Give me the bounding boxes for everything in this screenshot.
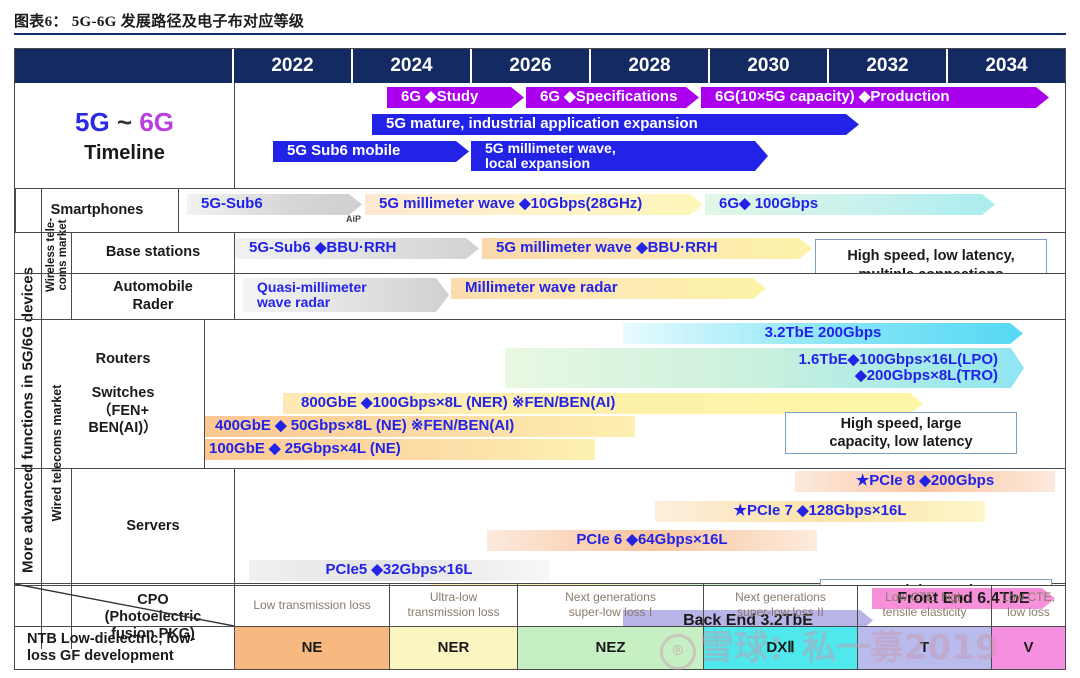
- bar-label: 5G-Sub6: [201, 196, 263, 212]
- bar-label: 400GbE ◆ 50Gbps×8L (NE) ※FEN/BEN(AI): [215, 418, 514, 434]
- bar-label: 1.6TbE◆100Gbps×16L(LPO)◆200Gbps×8L(TRO): [798, 352, 998, 384]
- legend-diagonal-cell: [15, 584, 234, 626]
- spacer-a-2: [15, 274, 41, 319]
- timeline-bar: 6G ◆Specifications: [526, 87, 699, 108]
- page-title: 图表6： 5G-6G 发展路径及电子布对应等级: [14, 10, 1066, 31]
- spacer-b-4: [41, 469, 71, 585]
- bar-label: 5G-Sub6 ◆BBU·RRH: [249, 240, 396, 256]
- timeline-canvas: 6G ◆Study6G ◆Specifications6G(10×5G capa…: [234, 83, 1065, 188]
- bar-label: 6G◆ 100Gbps: [719, 196, 818, 212]
- bar-label: Millimeter wave radar: [465, 280, 618, 296]
- legend-grade-3: DXⅡ: [703, 627, 857, 669]
- year-2032: 2032: [829, 49, 948, 83]
- timeline-bar: 5G millimeter wave ◆10Gbps(28GHz): [365, 194, 703, 215]
- legend-row-label: NTB Low-dielectric, low-loss GF developm…: [15, 627, 234, 669]
- legend-desc-3: Next generationssuper-low loss II: [703, 584, 857, 626]
- timeline-bar: 100GbE ◆ 25Gbps×4L (NE): [205, 439, 595, 460]
- bar-label: 6G ◆Specifications: [540, 89, 677, 105]
- timeline-bar: 800GbE ◆100Gbps×8L (NER) ※FEN/BEN(AI): [283, 393, 923, 414]
- year-2028: 2028: [591, 49, 710, 83]
- row-label-automobile-radar: AutomobileRader: [71, 274, 234, 319]
- bar-label: 3.2TbE 200Gbps: [765, 325, 882, 341]
- year-2034: 2034: [948, 49, 1065, 83]
- spacer-b-2: [41, 274, 71, 319]
- note-servers: High speed,large capacity: [820, 579, 1052, 585]
- servers-canvas: ★PCIe 8 ◆200Gbps★PCIe 7 ◆128Gbps×16LPCIe…: [234, 469, 1065, 585]
- legend-grade-1: NER: [389, 627, 517, 669]
- material-grade-legend: Low transmission lossUltra-lowtransmissi…: [15, 583, 1065, 669]
- timeline-bar: 1.6TbE◆100Gbps×16L(LPO)◆200Gbps×8L(TRO): [505, 348, 1024, 388]
- timeline-bar: Quasi-millimeterwave radar: [243, 278, 449, 312]
- legend-grade-row: NTB Low-dielectric, low-loss GF developm…: [15, 626, 1065, 669]
- bar-label: PCIe 6 ◆64Gbps×16L: [576, 532, 727, 548]
- legend-desc-1: Ultra-lowtransmission loss: [389, 584, 517, 626]
- spacer-a-4: [15, 469, 41, 585]
- timeline-bar: PCIe5 ◆32Gbps×16L: [249, 560, 549, 581]
- row-base-stations: Base stations 5G-Sub6 ◆BBU·RRH5G millime…: [15, 232, 1065, 273]
- legend-description-row: Low transmission lossUltra-lowtransmissi…: [15, 584, 1065, 626]
- note-wireless: High speed, low latency,multiple connect…: [815, 239, 1047, 273]
- legend-desc-4: Low CTE, hightensile elasticity: [857, 584, 991, 626]
- timeline-subtitle: Timeline: [84, 142, 165, 165]
- timeline-bar: ★PCIe 7 ◆128Gbps×16L: [655, 501, 985, 522]
- row-label-servers: Servers: [71, 469, 234, 585]
- legend-desc-5: Low CTE,low loss: [991, 584, 1065, 626]
- timeline-bar: 400GbE ◆ 50Gbps×8L (NE) ※FEN/BEN(AI): [205, 416, 635, 437]
- timeline-bar: 5G mature, industrial application expans…: [372, 114, 859, 135]
- bar-label: PCIe5 ◆32Gbps×16L: [325, 562, 472, 578]
- bar-label: 6G ◆Study: [401, 89, 478, 105]
- timeline-row: 5G ~ 6G Timeline 6G ◆Study6G ◆Specificat…: [15, 83, 1065, 188]
- table-header: 2022 2024 2026 2028 2030 2032 2034: [15, 49, 1065, 83]
- timeline-bar: Millimeter wave radar: [451, 278, 766, 299]
- title-underline: [14, 33, 1066, 35]
- year-2022: 2022: [234, 49, 353, 83]
- row-smartphones: More advanced functions in 5G/6G devices…: [15, 188, 1065, 232]
- bar-label: 5G mature, industrial application expans…: [386, 116, 698, 132]
- timeline-bar: 5G Sub6 mobile: [273, 141, 469, 162]
- spacer-a-3: [15, 320, 41, 468]
- roadmap-table: 2022 2024 2026 2028 2030 2032 2034 5G ~ …: [14, 48, 1066, 670]
- timeline-title: 5G ~ 6G: [75, 107, 174, 138]
- bar-label: 6G(10×5G capacity) ◆Production: [715, 89, 950, 105]
- timeline-6g-label: 6G: [139, 107, 174, 137]
- row-label-base-stations: Base stations: [71, 233, 234, 273]
- bar-label: 5G Sub6 mobile: [287, 143, 400, 159]
- legend-grade-4: T: [857, 627, 991, 669]
- timeline-bar: 5G-Sub6 ◆BBU·RRH: [235, 238, 479, 259]
- timeline-title-cell: 5G ~ 6G Timeline: [15, 83, 234, 188]
- row-automobile-radar: AutomobileRader Quasi-millimeterwave rad…: [15, 273, 1065, 319]
- routers-canvas: 3.2TbE 200Gbps1.6TbE◆100Gbps×16L(LPO)◆20…: [204, 320, 1065, 468]
- legend-grade-2: NEZ: [517, 627, 703, 669]
- aip-annotation: AiP: [346, 214, 361, 224]
- timeline-bar: 5G millimeter wave ◆BBU·RRH: [482, 238, 812, 259]
- row-routers-switches: Wired telecoms market RoutersSwitches（FE…: [15, 319, 1065, 468]
- legend-desc-0: Low transmission loss: [234, 584, 389, 626]
- bar-label: Quasi-millimeterwave radar: [257, 280, 367, 310]
- header-corner-cell: [15, 49, 234, 83]
- timeline-5g-label: 5G: [75, 107, 110, 137]
- bar-label: 5G millimeter wave,local expansion: [485, 141, 616, 171]
- base-stations-canvas: 5G-Sub6 ◆BBU·RRH5G millimeter wave ◆BBU·…: [234, 233, 1065, 273]
- smartphones-canvas: 5G-Sub65G millimeter wave ◆10Gbps(28GHz)…: [178, 189, 1065, 232]
- year-2030: 2030: [710, 49, 829, 83]
- timeline-bar: 5G millimeter wave,local expansion: [471, 141, 768, 171]
- year-2024: 2024: [353, 49, 472, 83]
- legend-grade-5: V: [991, 627, 1065, 669]
- diagonal-divider-icon: [15, 584, 234, 626]
- year-2026: 2026: [472, 49, 591, 83]
- automobile-radar-canvas: Quasi-millimeterwave radarMillimeter wav…: [234, 274, 1065, 319]
- timeline-bar: 5G-Sub6: [187, 194, 362, 215]
- legend-grade-0: NE: [234, 627, 389, 669]
- timeline-bar: ★PCIe 8 ◆200Gbps: [795, 471, 1055, 492]
- timeline-bar: PCIe 6 ◆64Gbps×16L: [487, 530, 817, 551]
- spacer-b-1: [41, 233, 71, 273]
- bar-label: ★PCIe 8 ◆200Gbps: [856, 473, 994, 489]
- legend-desc-2: Next generationssuper-low loss I: [517, 584, 703, 626]
- bar-label: 5G millimeter wave ◆10Gbps(28GHz): [379, 196, 642, 212]
- spacer-a-1: [15, 233, 41, 273]
- timeline-bar: 3.2TbE 200Gbps: [623, 323, 1023, 344]
- timeline-tilde: ~: [110, 107, 140, 137]
- note-wired: High speed, largecapacity, low latency: [785, 412, 1017, 454]
- timeline-bar: 6G ◆Study: [387, 87, 524, 108]
- bar-label: 5G millimeter wave ◆BBU·RRH: [496, 240, 718, 256]
- bar-label: 100GbE ◆ 25Gbps×4L (NE): [209, 441, 401, 457]
- row-servers: Servers ★PCIe 8 ◆200Gbps★PCIe 7 ◆128Gbps…: [15, 468, 1065, 585]
- bar-label: ★PCIe 7 ◆128Gbps×16L: [734, 503, 907, 519]
- bar-label: 800GbE ◆100Gbps×8L (NER) ※FEN/BEN(AI): [301, 395, 615, 411]
- timeline-bar: 6G◆ 100Gbps: [705, 194, 995, 215]
- timeline-bar: 6G(10×5G capacity) ◆Production: [701, 87, 1049, 108]
